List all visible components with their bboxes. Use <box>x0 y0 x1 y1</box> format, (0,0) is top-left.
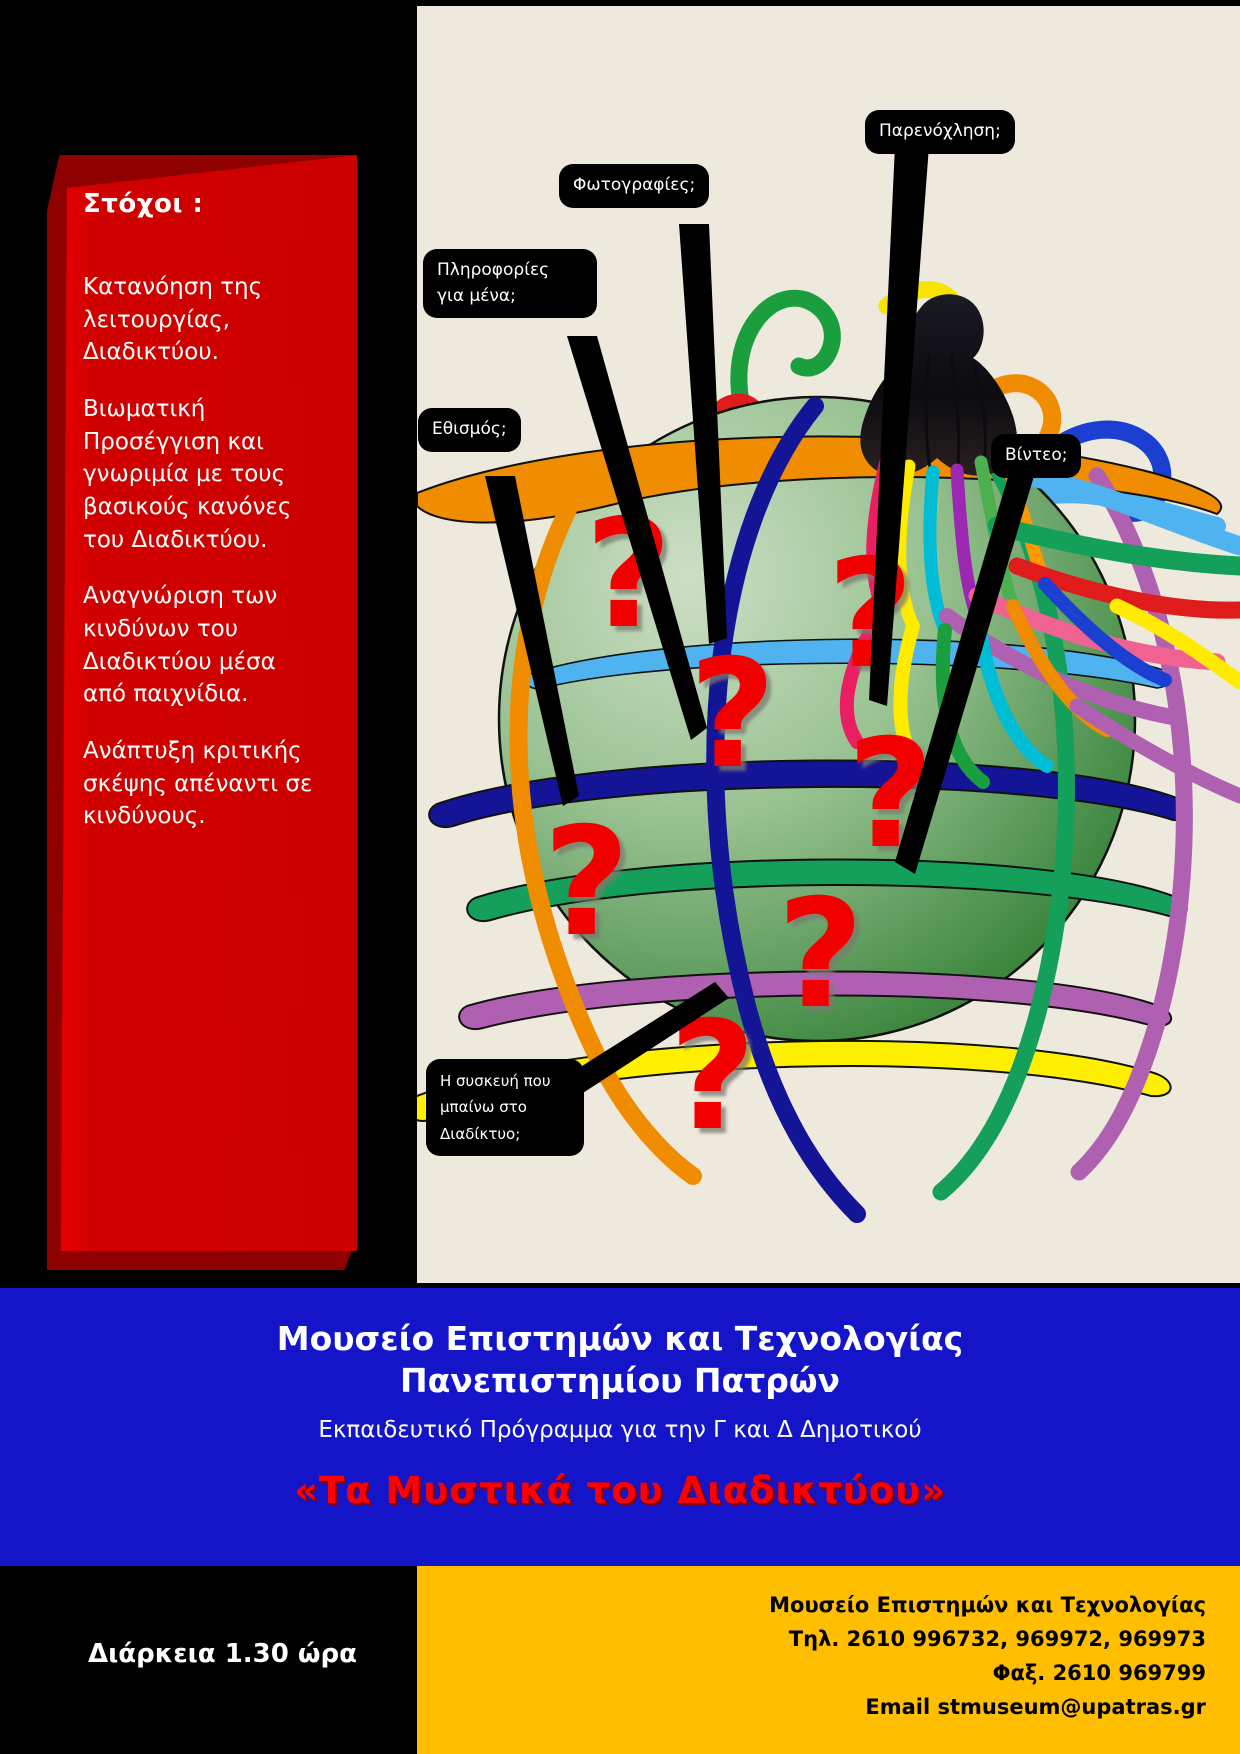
objectives-panel: Στόχοι : Κατανόηση της λειτουργίας, Διαδ… <box>47 155 357 1270</box>
program-title: «Τα Μυστικά του Διαδικτύου» <box>0 1443 1240 1512</box>
program-subtitle: Εκπαιδευτικό Πρόγραμμα για την Γ και Δ Δ… <box>0 1401 1240 1443</box>
objective-item: Αναγνώριση των κινδύνων του Διαδικτύου μ… <box>83 580 323 711</box>
tail-harassment <box>869 146 929 706</box>
panel-face: Στόχοι : Κατανόηση της λειτουργίας, Διαδ… <box>61 155 357 1251</box>
objective-item: Κατανόηση της λειτουργίας, Διαδικτύου. <box>83 271 323 369</box>
museum-title-line1: Μουσείο Επιστημών και Τεχνολογίας <box>277 1319 963 1358</box>
illustration-panel: ? ? ? ? ? ? ? <box>417 6 1240 1283</box>
tail-photos <box>679 224 727 644</box>
museum-title: Μουσείο Επιστημών και Τεχνολογίας Πανεπι… <box>0 1288 1240 1401</box>
upper-section: ? ? ? ? ? ? ? <box>0 0 1240 1288</box>
tail-device <box>563 982 729 1102</box>
museum-title-line2: Πανεπιστημίου Πατρών <box>400 1361 840 1400</box>
contact-line: Τηλ. 2610 996732, 969972, 969973 <box>417 1622 1240 1656</box>
objective-item: Βιωματική Προσέγγιση και γνωριμία με του… <box>83 393 323 556</box>
bubble-info-about-me[interactable]: Πληροφορίες για μένα; <box>423 249 597 318</box>
objective-item: Ανάπτυξη κριτικής σκέψης απέναντι σε κιν… <box>83 735 323 833</box>
contact-line: Φαξ. 2610 969799 <box>417 1656 1240 1690</box>
contact-line[interactable]: Email stmuseum@upatras.gr <box>417 1690 1240 1724</box>
objectives-title: Στόχοι : <box>83 189 323 219</box>
bubble-addiction[interactable]: Εθισμός; <box>418 408 521 452</box>
bubble-harassment[interactable]: Παρενόχληση; <box>865 110 1015 154</box>
bubble-device[interactable]: Η συσκευή που μπαίνω στο Διαδίκτυο; <box>426 1059 584 1156</box>
bubble-photos[interactable]: Φωτογραφίες; <box>559 164 709 208</box>
duration-label: Διάρκεια 1.30 ώρα <box>88 1639 357 1669</box>
tail-video <box>895 446 1043 874</box>
contact-box: Μουσείο Επιστημών και Τεχνολογίας Τηλ. 2… <box>417 1566 1240 1754</box>
bubble-video[interactable]: Βίντεο; <box>991 434 1081 478</box>
contact-line: Μουσείο Επιστημών και Τεχνολογίας <box>417 1566 1240 1622</box>
poster-root: ? ? ? ? ? ? ? <box>0 0 1240 1754</box>
tail-info <box>567 336 707 740</box>
bottom-strip: Διάρκεια 1.30 ώρα Μουσείο Επιστημών και … <box>0 1566 1240 1754</box>
footer-blue-band: Μουσείο Επιστημών και Τεχνολογίας Πανεπι… <box>0 1288 1240 1566</box>
tail-addiction <box>485 476 579 806</box>
